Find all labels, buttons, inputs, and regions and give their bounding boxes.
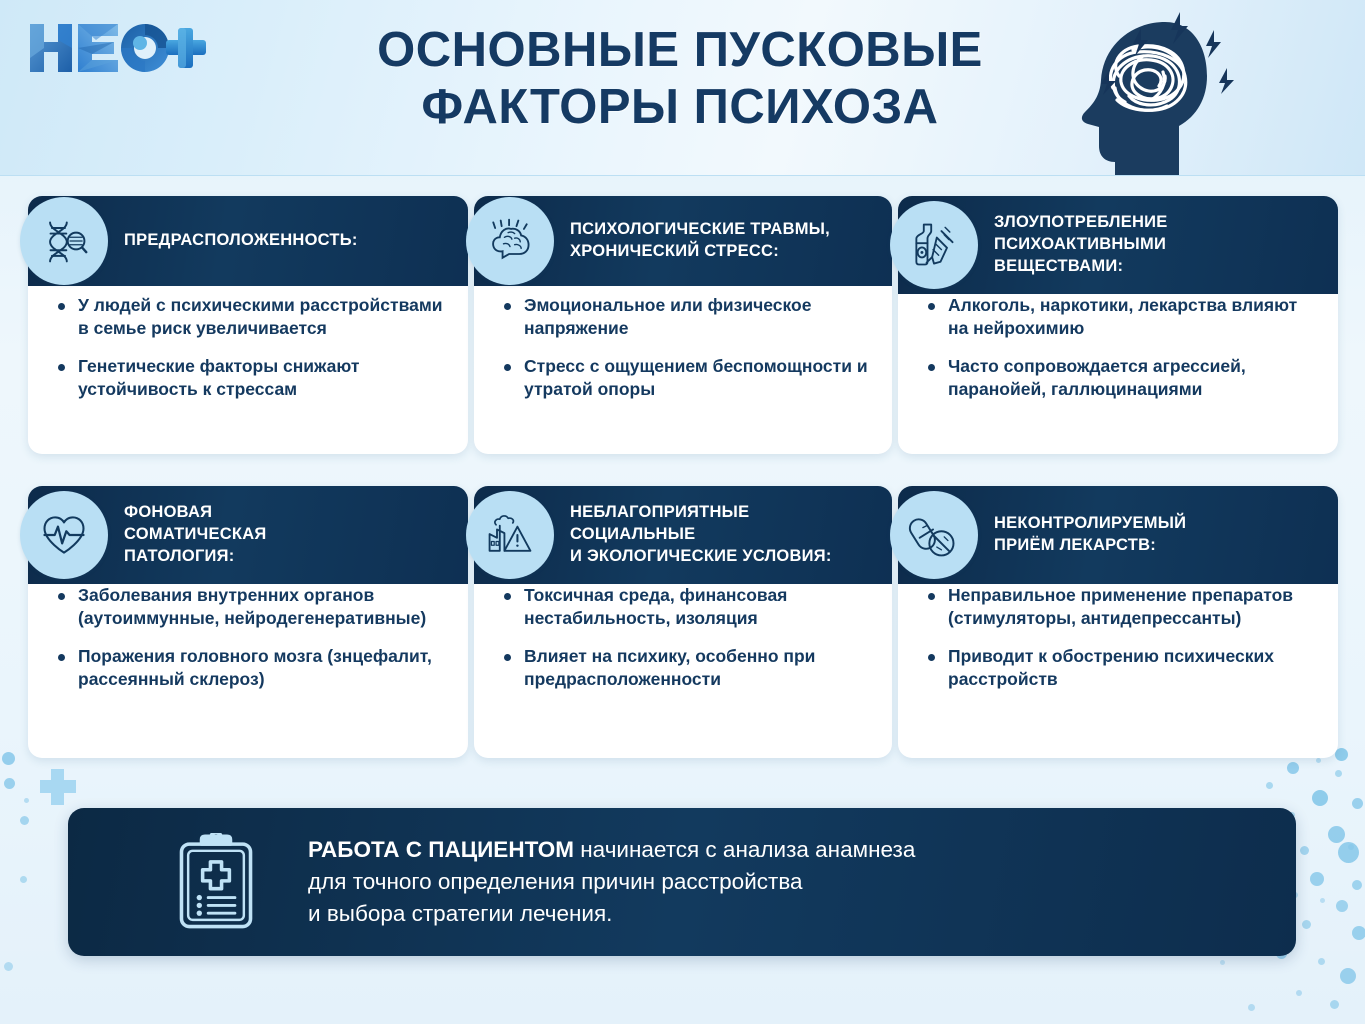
deco-plus: [51, 769, 64, 805]
deco-dot: [1248, 1004, 1255, 1011]
bullet-item: Часто сопровождается агрессией, паранойе…: [924, 355, 1318, 402]
deco-plus: [40, 780, 76, 793]
deco-dot: [1335, 770, 1342, 777]
deco-dot: [1266, 782, 1273, 789]
card-body: Заболевания внутренних органов (аутоимму…: [28, 578, 468, 692]
dna-magnifier-icon: [20, 197, 108, 285]
bullet-list: Эмоциональное или физическое напряжение …: [500, 294, 872, 402]
card-title-line: ПАТОЛОГИЯ:: [124, 546, 266, 568]
card-header: НЕКОНТРОЛИРУЕМЫЙ ПРИЁМ ЛЕКАРСТВ:: [898, 486, 1338, 584]
card-title: ПСИХОЛОГИЧЕСКИЕ ТРАВМЫ, ХРОНИЧЕСКИЙ СТРЕ…: [570, 219, 830, 263]
deco-dot: [1340, 968, 1356, 984]
bullet-item: Влияет на психику, особенно при предрасп…: [500, 645, 872, 692]
bullet-list: Неправильное применение препаратов (стим…: [924, 584, 1318, 692]
patient-work-line-1: РАБОТА С ПАЦИЕНТОМ начинается с анализа …: [308, 834, 915, 866]
factor-card-predisposition: ПРЕДРАСПОЛОЖЕННОСТЬ: У людей с психическ…: [28, 196, 468, 454]
factors-grid-row-1: ПРЕДРАСПОЛОЖЕННОСТЬ: У людей с психическ…: [28, 196, 1338, 454]
card-title: ФОНОВАЯ СОМАТИЧЕСКАЯ ПАТОЛОГИЯ:: [124, 502, 266, 567]
factor-card-somatic-pathology: ФОНОВАЯ СОМАТИЧЕСКАЯ ПАТОЛОГИЯ: Заболева…: [28, 486, 468, 758]
bullet-list: Алкоголь, наркотики, лекарства влияют на…: [924, 294, 1318, 402]
deco-dot: [1348, 844, 1354, 850]
deco-dot: [20, 816, 29, 825]
bullet-item: Алкоголь, наркотики, лекарства влияют на…: [924, 294, 1318, 341]
card-header: ЗЛОУПОТРЕБЛЕНИЕ ПСИХОАКТИВНЫМИ ВЕЩЕСТВАМ…: [898, 196, 1338, 294]
card-title-line: ПРЕДРАСПОЛОЖЕННОСТЬ:: [124, 230, 358, 252]
deco-dot: [4, 778, 15, 789]
factor-card-trauma-stress: ПСИХОЛОГИЧЕСКИЕ ТРАВМЫ, ХРОНИЧЕСКИЙ СТРЕ…: [474, 196, 892, 454]
bullet-list: Заболевания внутренних органов (аутоимму…: [54, 584, 448, 692]
deco-dot: [1302, 920, 1311, 929]
deco-dot: [2, 752, 15, 765]
deco-dot: [1318, 958, 1325, 965]
patient-work-line-2: для точного определения причин расстройс…: [308, 866, 915, 898]
deco-dot: [1312, 790, 1328, 806]
deco-dot: [1352, 926, 1365, 940]
bottle-syringe-icon: [890, 201, 978, 289]
card-title-line: СОМАТИЧЕСКАЯ: [124, 524, 266, 546]
factor-card-substance-abuse: ЗЛОУПОТРЕБЛЕНИЕ ПСИХОАКТИВНЫМИ ВЕЩЕСТВАМ…: [898, 196, 1338, 454]
page-header-band: ОСНОВНЫЕ ПУСКОВЫЕ ФАКТОРЫ ПСИХОЗА: [0, 0, 1365, 176]
card-title-line: ФОНОВАЯ: [124, 502, 266, 524]
page-title-line-1: ОСНОВНЫЕ ПУСКОВЫЕ: [300, 22, 1060, 79]
card-title-line: ПРИЁМ ЛЕКАРСТВ:: [994, 535, 1186, 557]
patient-work-line-3: и выбора стратегии лечения.: [308, 898, 915, 930]
bullet-item: Заболевания внутренних органов (аутоимму…: [54, 584, 448, 631]
card-body: Токсичная среда, финансовая нестабильнос…: [474, 578, 892, 692]
card-body: У людей с психическими расстройствами в …: [28, 288, 468, 402]
pills-icon: [890, 491, 978, 579]
card-title-line: ВЕЩЕСТВАМИ:: [994, 256, 1168, 278]
card-title-line: ХРОНИЧЕСКИЙ СТРЕСС:: [570, 241, 830, 263]
card-title: НЕБЛАГОПРИЯТНЫЕ СОЦИАЛЬНЫЕ И ЭКОЛОГИЧЕСК…: [570, 502, 832, 567]
patient-work-line-1-rest: начинается с анализа анамнеза: [574, 837, 915, 862]
bullet-item: Неправильное применение препаратов (стим…: [924, 584, 1318, 631]
card-title-line: СОЦИАЛЬНЫЕ: [570, 524, 832, 546]
page-title-line-2: ФАКТОРЫ ПСИХОЗА: [300, 79, 1060, 136]
factor-card-uncontrolled-medication: НЕКОНТРОЛИРУЕМЫЙ ПРИЁМ ЛЕКАРСТВ: Неправи…: [898, 486, 1338, 758]
bullet-list: У людей с психическими расстройствами в …: [54, 294, 448, 402]
deco-dot: [4, 962, 13, 971]
deco-dot: [1220, 960, 1225, 965]
card-title-line: ЗЛОУПОТРЕБЛЕНИЕ: [994, 212, 1168, 234]
card-header: ПРЕДРАСПОЛОЖЕННОСТЬ:: [28, 196, 468, 286]
factor-card-social-ecological: НЕБЛАГОПРИЯТНЫЕ СОЦИАЛЬНЫЕ И ЭКОЛОГИЧЕСК…: [474, 486, 892, 758]
brand-logo[interactable]: [26, 18, 206, 78]
deco-dot: [1296, 990, 1302, 996]
bullet-list: Токсичная среда, финансовая нестабильнос…: [500, 584, 872, 692]
deco-dot: [1352, 798, 1363, 809]
bullet-item: Стресс с ощущением беспомощности и утрат…: [500, 355, 872, 402]
card-header: НЕБЛАГОПРИЯТНЫЕ СОЦИАЛЬНЫЕ И ЭКОЛОГИЧЕСК…: [474, 486, 892, 584]
card-title: НЕКОНТРОЛИРУЕМЫЙ ПРИЁМ ЛЕКАРСТВ:: [994, 513, 1186, 557]
deco-dot: [1287, 762, 1299, 774]
bullet-item: У людей с психическими расстройствами в …: [54, 294, 448, 341]
deco-dot: [1338, 842, 1359, 863]
bullet-item: Генетические факторы снижают устойчивост…: [54, 355, 448, 402]
card-title-line: НЕКОНТРОЛИРУЕМЫЙ: [994, 513, 1186, 535]
head-psychosis-icon: [1047, 6, 1247, 176]
factors-grid-row-2: ФОНОВАЯ СОМАТИЧЕСКАЯ ПАТОЛОГИЯ: Заболева…: [28, 486, 1338, 758]
card-title-line: ПСИХОАКТИВНЫМИ: [994, 234, 1168, 256]
deco-dot: [20, 876, 27, 883]
stressed-brain-icon: [466, 197, 554, 285]
bullet-item: Поражения головного мозга (знцефалит, ра…: [54, 645, 448, 692]
deco-dot: [1336, 900, 1348, 912]
bullet-item: Приводит к обострению психических расстр…: [924, 645, 1318, 692]
patient-work-lead: РАБОТА С ПАЦИЕНТОМ: [308, 837, 574, 862]
clipboard-medical-icon: [166, 833, 266, 931]
card-title-line: ПСИХОЛОГИЧЕСКИЕ ТРАВМЫ,: [570, 219, 830, 241]
card-title: ПРЕДРАСПОЛОЖЕННОСТЬ:: [124, 230, 358, 252]
deco-dot: [1328, 826, 1345, 843]
card-title-line: И ЭКОЛОГИЧЕСКИЕ УСЛОВИЯ:: [570, 546, 832, 568]
card-body: Алкоголь, наркотики, лекарства влияют на…: [898, 288, 1338, 402]
bullet-item: Эмоциональное или физическое напряжение: [500, 294, 872, 341]
card-title: ЗЛОУПОТРЕБЛЕНИЕ ПСИХОАКТИВНЫМИ ВЕЩЕСТВАМ…: [994, 212, 1168, 277]
heart-pulse-icon: [20, 491, 108, 579]
deco-dot: [1316, 758, 1321, 763]
deco-dot: [24, 798, 29, 803]
deco-dot: [1352, 880, 1362, 890]
card-body: Эмоциональное или физическое напряжение …: [474, 288, 892, 402]
patient-work-banner: РАБОТА С ПАЦИЕНТОМ начинается с анализа …: [68, 808, 1296, 956]
card-header: ФОНОВАЯ СОМАТИЧЕСКАЯ ПАТОЛОГИЯ:: [28, 486, 468, 584]
bullet-item: Токсичная среда, финансовая нестабильнос…: [500, 584, 872, 631]
factory-warning-icon: [466, 491, 554, 579]
deco-dot: [1330, 1000, 1339, 1009]
card-title-line: НЕБЛАГОПРИЯТНЫЕ: [570, 502, 832, 524]
page-title: ОСНОВНЫЕ ПУСКОВЫЕ ФАКТОРЫ ПСИХОЗА: [300, 22, 1060, 136]
deco-dot: [1300, 846, 1309, 855]
card-header: ПСИХОЛОГИЧЕСКИЕ ТРАВМЫ, ХРОНИЧЕСКИЙ СТРЕ…: [474, 196, 892, 286]
patient-work-text: РАБОТА С ПАЦИЕНТОМ начинается с анализа …: [308, 834, 915, 930]
deco-dot: [1320, 898, 1325, 903]
infographic-page: ОСНОВНЫЕ ПУСКОВЫЕ ФАКТОРЫ ПСИХОЗА: [0, 0, 1365, 1024]
deco-dot: [1310, 872, 1324, 886]
card-body: Неправильное применение препаратов (стим…: [898, 578, 1338, 692]
